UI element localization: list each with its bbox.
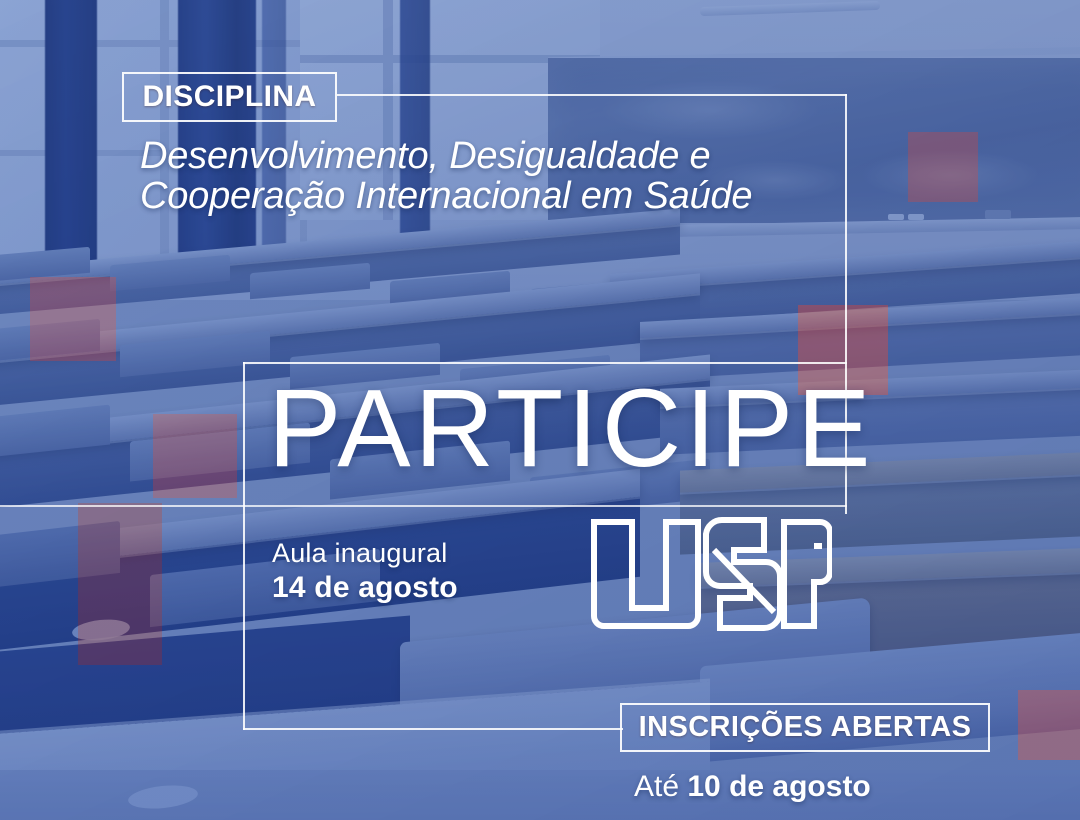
frame-line-inner-left [243,362,245,730]
frame-line-mid [0,505,847,507]
frame-line-bottom [243,728,623,730]
first-class-block: Aula inaugural 14 de agosto [272,538,458,605]
enrollment-badge: INSCRIÇÕES ABERTAS [620,703,990,752]
participe-headline: PARTICIPE [268,374,875,484]
course-title-line-2: Cooperação Internacional em Saúde [140,176,900,216]
decor-square-left-upper [30,277,116,361]
frame-line-top [337,94,847,96]
course-title: Desenvolvimento, Desigualdade e Cooperaç… [140,136,900,217]
enrollment-deadline-lead: Até [634,770,687,803]
usp-logo [588,516,832,632]
decor-square-board [908,132,978,202]
frame-line-inner-top [243,362,847,364]
poster-root: DISCIPLINA Desenvolvimento, Desigualdade… [0,0,1080,820]
enrollment-deadline-date: 10 de agosto [687,770,870,803]
decor-square-left-lower [78,503,162,665]
first-class-label: Aula inaugural [272,538,458,569]
enrollment-badge-label: INSCRIÇÕES ABERTAS [639,711,972,744]
decor-square-bottom-right [1018,690,1080,760]
enrollment-deadline: Até 10 de agosto [634,770,871,804]
discipline-badge: DISCIPLINA [122,72,337,122]
first-class-date: 14 de agosto [272,571,458,605]
course-title-line-1: Desenvolvimento, Desigualdade e [140,135,710,177]
discipline-badge-label: DISCIPLINA [142,80,316,114]
decor-square-left-mid [153,414,237,498]
